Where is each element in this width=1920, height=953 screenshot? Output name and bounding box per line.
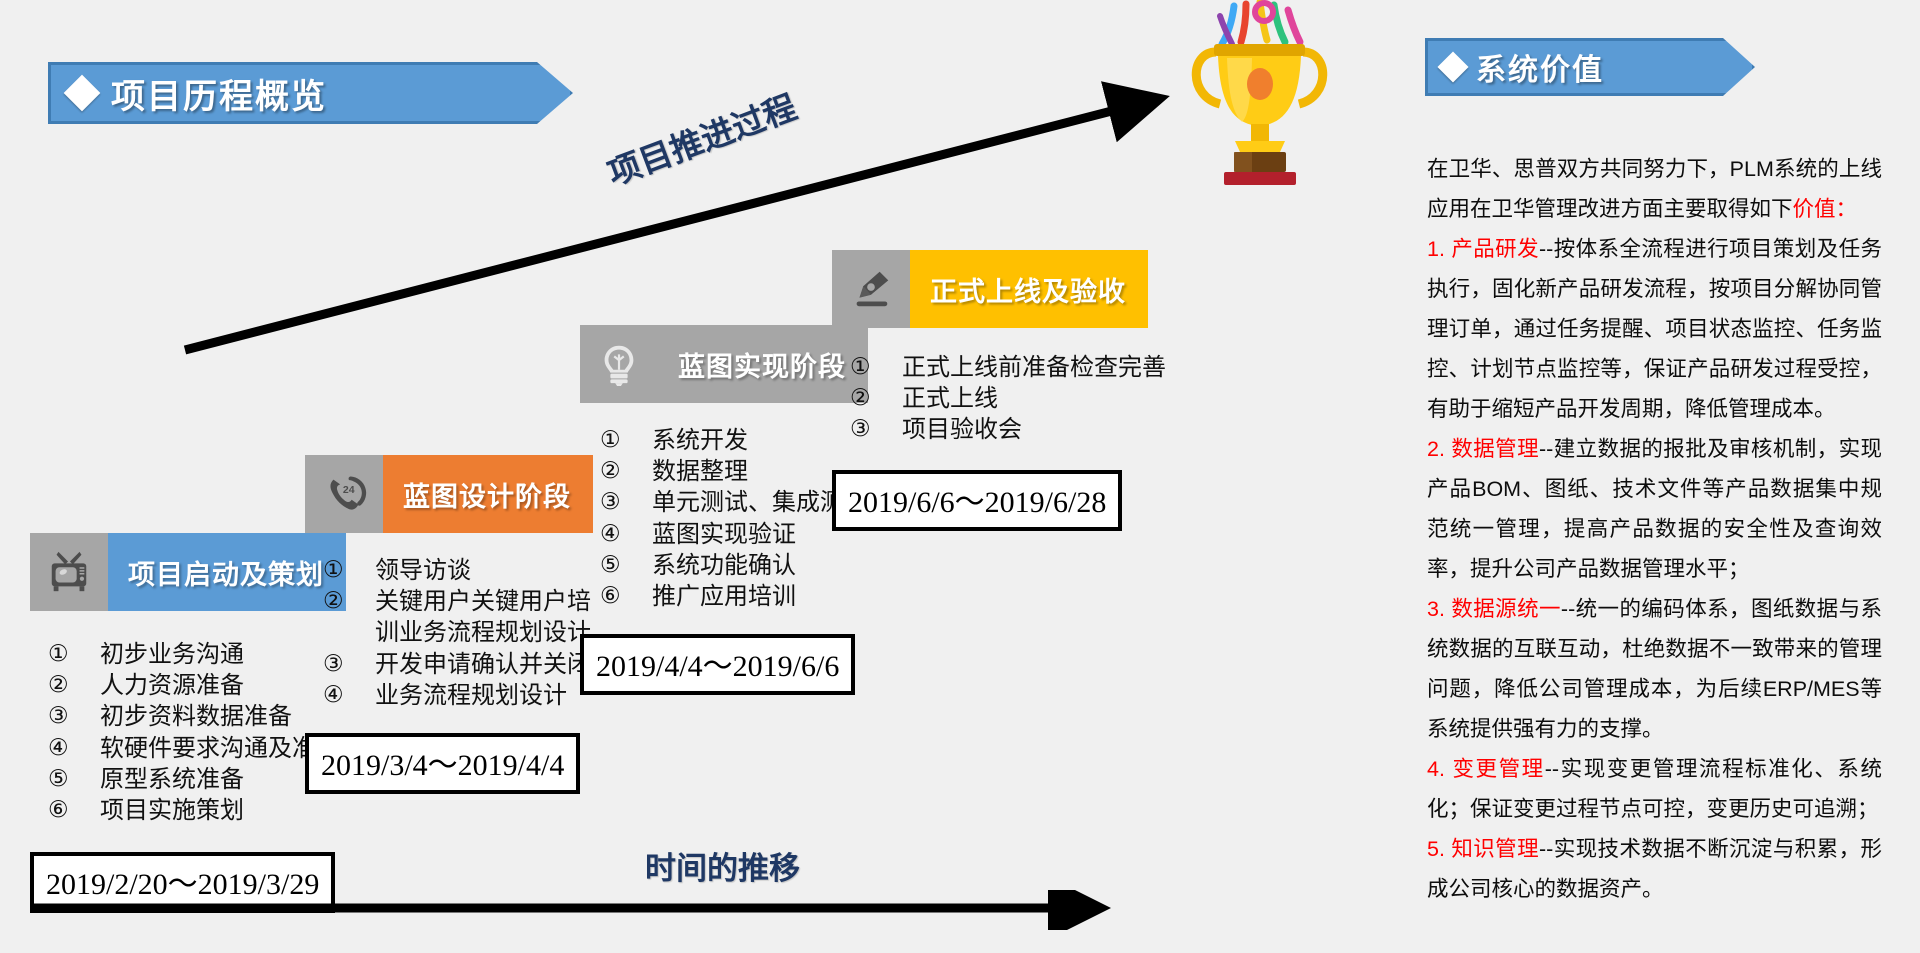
list-item-number: ③ (48, 701, 100, 731)
list-item: ③初步资料数据准备 (48, 701, 346, 732)
stage-2-date-badge: 2019/3/4～2019/4/4 (305, 733, 580, 794)
list-item: ②正式上线 (850, 383, 1166, 414)
list-item-text: 系统功能确认 (652, 550, 796, 581)
list-item-number: ⑤ (48, 764, 100, 794)
svg-text:24: 24 (343, 484, 355, 496)
stage-4-title: 正式上线及验收 (910, 250, 1148, 328)
list-item-text: 领导访谈 (375, 555, 471, 586)
stage-4-date-wrap: 2019/6/6～2019/6/28 (832, 470, 1166, 531)
list-item-number: ① (850, 352, 902, 382)
left-banner-title: 项目历程概览 (111, 69, 327, 118)
value-item-name: 数据管理 (1451, 437, 1539, 461)
list-item-text: 项目验收会 (902, 414, 1022, 445)
tv-icon (30, 533, 108, 611)
list-item-number: ① (323, 555, 375, 585)
progress-arrow-label: 项目推进过程 (600, 81, 802, 195)
slide-canvas: 项目历程概览 系统价值 项目推进过程 (0, 0, 1920, 953)
stage-3-date-badge: 2019/4/4～2019/6/6 (580, 634, 855, 695)
list-item-number: ③ (323, 649, 375, 679)
value-intro: 在卫华、思普双方共同努力下，PLM系统的上线应用在卫华管理改进方面主要取得如下价… (1427, 150, 1882, 230)
value-item-index: 4. (1427, 757, 1452, 781)
list-item-number: ⑤ (600, 550, 652, 580)
stage-4-header: 正式上线及验收 (832, 250, 1166, 328)
list-item: ①系统开发 (600, 425, 868, 456)
list-item-number: ④ (600, 519, 652, 549)
diamond-icon (64, 75, 101, 112)
list-item-text: 关键用户关键用户培 训业务流程规划设计 (375, 586, 591, 648)
stage-1: 项目启动及策划 ①初步业务沟通 ②人力资源准备 ③初步资料数据准备 ④软硬件要求… (30, 533, 346, 913)
list-item-text: 正式上线 (902, 383, 998, 414)
list-item-text: 推广应用培训 (652, 581, 796, 612)
value-item-name: 变更管理 (1452, 757, 1544, 781)
stage-3-list: ①系统开发 ②数据整理 ③单元测试、集成测试 ④蓝图实现验证 ⑤系统功能确认 ⑥… (600, 425, 868, 612)
list-item: ④软硬件要求沟通及准备 (48, 733, 346, 764)
diamond-icon (1437, 51, 1468, 82)
list-item: ⑤原型系统准备 (48, 764, 346, 795)
stage-2: 24 蓝图设计阶段 ①领导访谈 ②关键用户关键用户培 训业务流程规划设计 ③开发… (305, 455, 593, 794)
list-item-text: 软硬件要求沟通及准备 (100, 733, 340, 764)
value-item-name: 数据源统一 (1451, 597, 1561, 621)
phone-24h-icon: 24 (305, 455, 383, 533)
value-item-name: 产品研发 (1451, 237, 1539, 261)
list-item-text: 人力资源准备 (100, 670, 244, 701)
stage-2-header: 24 蓝图设计阶段 (305, 455, 593, 533)
list-item-text: 原型系统准备 (100, 764, 244, 795)
value-item-index: 5. (1427, 837, 1451, 861)
stage-3-header: 蓝图实现阶段 (580, 325, 868, 403)
list-item: ③项目验收会 (850, 414, 1166, 445)
list-item-text: 数据整理 (652, 456, 748, 487)
stage-2-title: 蓝图设计阶段 (383, 455, 593, 533)
value-item-index: 1. (1427, 237, 1451, 261)
stage-1-header: 项目启动及策划 (30, 533, 346, 611)
list-item-text: 正式上线前准备检查完善 (902, 352, 1166, 383)
list-item: ②人力资源准备 (48, 670, 346, 701)
stage-3: 蓝图实现阶段 ①系统开发 ②数据整理 ③单元测试、集成测试 ④蓝图实现验证 ⑤系… (580, 325, 868, 695)
trophy-icon (1172, 0, 1347, 190)
list-item: ④业务流程规划设计 (323, 680, 593, 711)
list-item-text: 蓝图实现验证 (652, 519, 796, 550)
stage-4-list: ①正式上线前准备检查完善 ②正式上线 ③项目验收会 (850, 352, 1166, 446)
list-item-number: ③ (850, 414, 902, 444)
value-item-body: --按体系全流程进行项目策划及任务执行，固化新产品研发流程，按项目分解协同管理订… (1427, 237, 1882, 421)
value-panel: 在卫华、思普双方共同努力下，PLM系统的上线应用在卫华管理改进方面主要取得如下价… (1427, 150, 1882, 910)
list-item-number: ⑥ (48, 795, 100, 825)
value-item-name: 知识管理 (1451, 837, 1539, 861)
list-item-number: ① (600, 425, 652, 455)
list-item: ①正式上线前准备检查完善 (850, 352, 1166, 383)
list-item: ①领导访谈 (323, 555, 593, 586)
value-item: 3. 数据源统一--统一的编码体系，图纸数据与系统数据的互联互动，杜绝数据不一致… (1427, 590, 1882, 750)
list-item-number: ① (48, 639, 100, 669)
list-item-text: 系统开发 (652, 425, 748, 456)
list-item-text: 初步资料数据准备 (100, 701, 292, 732)
lightbulb-icon (580, 325, 658, 403)
list-item-number: ② (850, 383, 902, 413)
list-item-number: ② (48, 670, 100, 700)
list-item-number: ② (323, 586, 375, 616)
value-item: 5. 知识管理--实现技术数据不断沉淀与积累，形成公司核心的数据资产。 (1427, 830, 1882, 910)
value-item: 1. 产品研发--按体系全流程进行项目策划及任务执行，固化新产品研发流程，按项目… (1427, 230, 1882, 430)
value-item-index: 3. (1427, 597, 1451, 621)
left-section-banner: 项目历程概览 (48, 62, 573, 124)
stage-4-date-badge: 2019/6/6～2019/6/28 (832, 470, 1122, 531)
list-item: ①初步业务沟通 (48, 639, 346, 670)
right-banner-title: 系统价值 (1476, 45, 1604, 89)
list-item-text: 业务流程规划设计 (375, 680, 567, 711)
stage-1-list: ①初步业务沟通 ②人力资源准备 ③初步资料数据准备 ④软硬件要求沟通及准备 ⑤原… (48, 639, 346, 826)
value-item-index: 2. (1427, 437, 1451, 461)
list-item: ⑥项目实施策划 (48, 795, 346, 826)
list-item: ⑤系统功能确认 (600, 550, 868, 581)
stage-2-date-wrap: 2019/3/4～2019/4/4 (305, 733, 593, 794)
list-item-number: ③ (600, 487, 652, 517)
list-item: ⑥推广应用培训 (600, 581, 868, 612)
list-item: ②数据整理 (600, 456, 868, 487)
list-item-text: 开发申请确认并关闭 (375, 649, 591, 680)
value-item: 4. 变更管理--实现变更管理流程标准化、系统化；保证变更过程节点可控，变更历史… (1427, 750, 1882, 830)
time-axis-arrow-icon (30, 890, 1120, 930)
stage-3-date-wrap: 2019/4/4～2019/6/6 (580, 634, 868, 695)
list-item-text: 初步业务沟通 (100, 639, 244, 670)
list-item-number: ⑥ (600, 581, 652, 611)
pen-nib-icon (832, 250, 910, 328)
list-item-number: ④ (323, 680, 375, 710)
value-intro-highlight: 价值： (1793, 197, 1858, 221)
list-item: ④蓝图实现验证 (600, 519, 868, 550)
stage-2-list: ①领导访谈 ②关键用户关键用户培 训业务流程规划设计 ③开发申请确认并关闭 ④业… (323, 555, 593, 711)
list-item-number: ④ (48, 733, 100, 763)
list-item-number: ② (600, 456, 652, 486)
list-item: ③单元测试、集成测试 (600, 487, 868, 518)
stage-4: 正式上线及验收 ①正式上线前准备检查完善 ②正式上线 ③项目验收会 2019/6… (832, 250, 1166, 531)
value-item: 2. 数据管理--建立数据的报批及审核机制，实现产品BOM、图纸、技术文件等产品… (1427, 430, 1882, 590)
list-item: ③开发申请确认并关闭 (323, 649, 593, 680)
right-section-banner: 系统价值 (1425, 38, 1755, 96)
list-item-text: 项目实施策划 (100, 795, 244, 826)
list-item: ②关键用户关键用户培 训业务流程规划设计 (323, 586, 593, 648)
time-axis-label: 时间的推移 (645, 843, 800, 888)
